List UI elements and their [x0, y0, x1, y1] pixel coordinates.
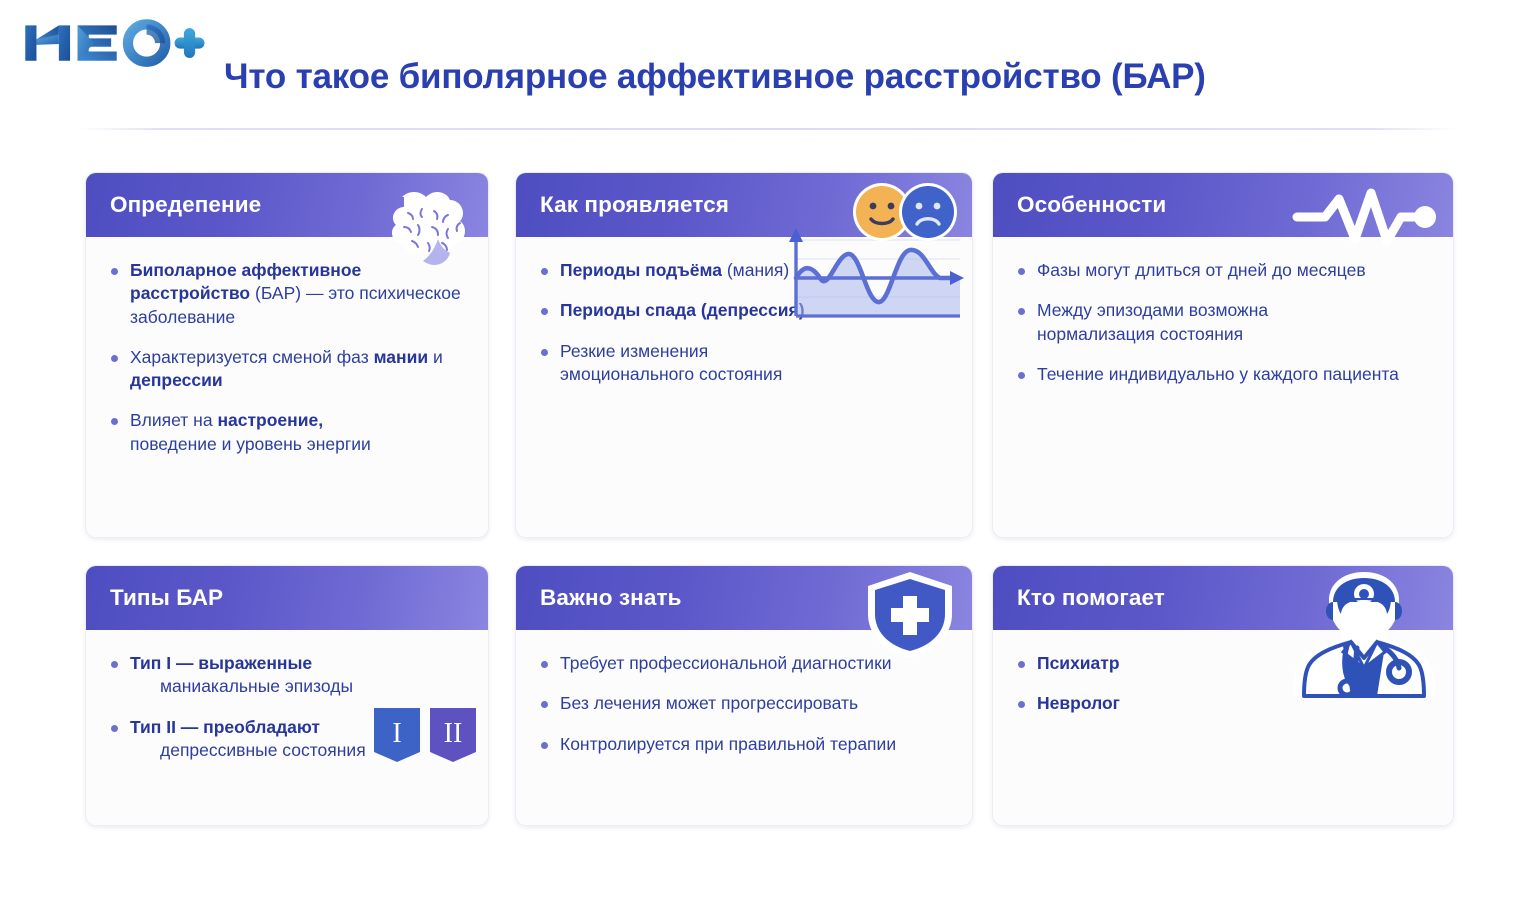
cards-grid: Опредепение	[0, 0, 1536, 922]
card-features-bullets: Фазы могут длиться от дней до месяцев Ме…	[1015, 259, 1433, 386]
card-types-title: Типы БАР	[110, 585, 223, 611]
bullet-subline: маниакальные эпизоды	[130, 675, 468, 698]
bullet-strong: Периоды подъёма	[560, 260, 722, 280]
card-features-body: Фазы могут длиться от дней до месяцев Ме…	[993, 237, 1453, 400]
list-item: Фазы могут длиться от дней до месяцев	[1015, 259, 1433, 282]
bullet-subline: нормализация состояния	[1037, 323, 1433, 346]
card-important-title: Важно знать	[540, 585, 682, 611]
card-who-helps[interactable]: Кто помогает	[992, 565, 1454, 826]
card-symptoms-title: Как проявляется	[540, 192, 729, 218]
card-types[interactable]: Типы БАР Тип I — выраженные маниакальные…	[85, 565, 489, 826]
card-important-header: Важно знать	[516, 566, 972, 630]
bullet-regular-tail: и	[428, 347, 443, 367]
bullet-regular: Требует профессиональной диагностики	[560, 653, 892, 673]
bullet-regular: Контролируется при правильной терапии	[560, 734, 896, 754]
bullet-regular: Фазы могут длиться от дней до месяцев	[1037, 260, 1366, 280]
badge-label-two: II	[444, 718, 463, 749]
list-item: Тип I — выраженные маниакальные эпизоды	[108, 652, 468, 699]
card-who-helps-bullets: Психиатр Невролог	[1015, 652, 1433, 716]
card-important-body: Требует профессиональной диагностики Без…	[516, 630, 972, 770]
list-item: Требует профессиональной диагностики	[538, 652, 952, 675]
card-important-bullets: Требует профессиональной диагностики Без…	[538, 652, 952, 756]
card-features-title: Особенности	[1017, 192, 1166, 218]
list-item: Течение индивидуально у каждого пациента	[1015, 363, 1433, 386]
card-types-header: Типы БАР	[86, 566, 488, 630]
bullet-strong: Периоды спада (депрессия)	[560, 300, 805, 320]
bullet-regular-lead: Характеризуется сменой фаз	[130, 347, 374, 367]
bullet-regular-lead: Влияет на	[130, 410, 217, 430]
card-who-helps-body: Психиатр Невролог	[993, 630, 1453, 730]
bullet-subline: эмоционального состояния	[560, 363, 952, 386]
card-symptoms[interactable]: Как проявляется Периоды по	[515, 172, 973, 538]
card-types-body: Тип I — выраженные маниакальные эпизоды …	[86, 630, 488, 776]
list-item: Контролируется при правильной терапии	[538, 733, 952, 756]
bullet-strong: настроение,	[217, 410, 323, 430]
bullet-strong: Невролог	[1037, 693, 1120, 713]
card-definition-bullets: Биполарное аффективное расстройство (БАР…	[108, 259, 468, 456]
list-item: Между эпизодами возможна нормализация со…	[1015, 299, 1433, 346]
mood-wave-chart-icon	[774, 226, 964, 326]
card-definition[interactable]: Опредепение	[85, 172, 489, 538]
infographic-page: Что такое биполярное аффективное расстро…	[0, 0, 1536, 922]
bullet-strong: Тип II — преобладают	[130, 717, 320, 737]
card-definition-header: Опредепение	[86, 173, 488, 237]
card-definition-body: Биполарное аффективное расстройство (БАР…	[86, 237, 488, 470]
bullet-regular: Течение индивидуально у каждого пациента	[1037, 364, 1399, 384]
card-features-header: Особенности	[993, 173, 1453, 237]
card-features[interactable]: Особенности Фазы могут длиться от дней д…	[992, 172, 1454, 538]
list-item: Влияет на настроение, поведение и уровен…	[108, 409, 468, 456]
list-item: Резкие изменения эмоционального состояни…	[538, 340, 952, 387]
bullet-strong: Тип I — выраженные	[130, 653, 312, 673]
list-item: Психиатр	[1015, 652, 1433, 675]
card-definition-title: Опредепение	[110, 192, 261, 218]
list-item: Биполарное аффективное расстройство (БАР…	[108, 259, 468, 329]
list-item: Характеризуется сменой фаз мании и депре…	[108, 346, 468, 393]
list-item: Невролог	[1015, 692, 1433, 715]
type-badges-icon: I II	[370, 704, 482, 766]
bullet-regular: Между эпизодами возможна	[1037, 300, 1268, 320]
card-important[interactable]: Важно знать Требует профессиональной диа…	[515, 565, 973, 826]
bullet-strong: мании	[374, 347, 429, 367]
bullet-strong: Психиатр	[1037, 653, 1120, 673]
card-symptoms-body: Периоды подъёма (мания) Периоды спада (д…	[516, 237, 972, 400]
bullet-regular: Без лечения может прогрессировать	[560, 693, 858, 713]
badge-label-one: I	[392, 718, 401, 749]
card-who-helps-title: Кто помогает	[1017, 585, 1165, 611]
list-item: Без лечения может прогрессировать	[538, 692, 952, 715]
bullet-subline: поведение и уровень энергии	[130, 433, 468, 456]
bullet-regular: Резкие изменения	[560, 341, 708, 361]
card-who-helps-header: Кто помогает	[993, 566, 1453, 630]
bullet-strong-2: депрессии	[130, 370, 223, 390]
